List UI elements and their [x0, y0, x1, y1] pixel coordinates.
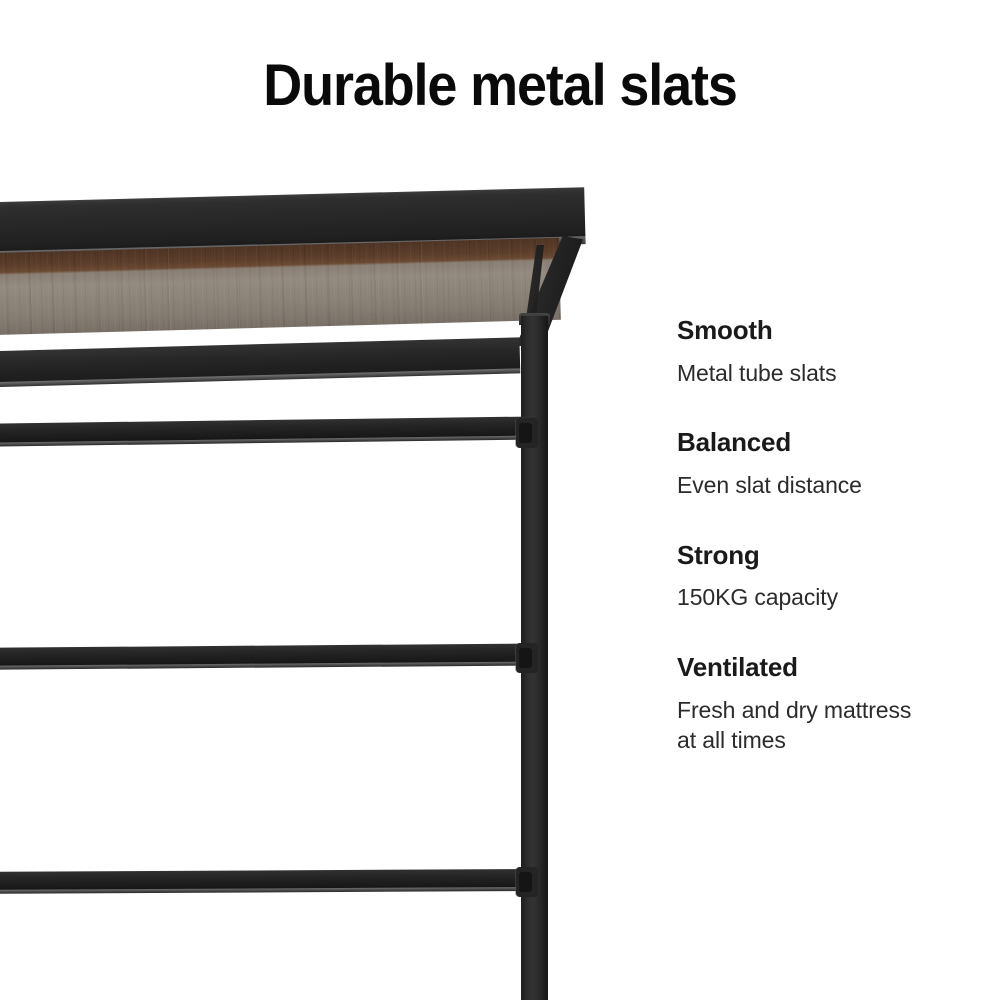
feature-title-strong: Strong	[677, 541, 987, 571]
bed-wood-panel	[0, 238, 561, 336]
feature-list: Smooth Metal tube slats Balanced Even sl…	[677, 316, 987, 755]
slat-bracket-3	[516, 867, 538, 897]
bed-metal-slat-3	[0, 869, 535, 891]
feature-item-balanced: Balanced Even slat distance	[677, 428, 987, 500]
feature-desc-balanced: Even slat distance	[677, 470, 987, 500]
feature-desc-strong: 150KG capacity	[677, 582, 987, 612]
feature-desc-smooth: Metal tube slats	[677, 358, 987, 388]
slat-bracket-2	[516, 643, 538, 673]
bed-metal-slat-1	[0, 416, 535, 444]
feature-title-smooth: Smooth	[677, 316, 987, 346]
feature-item-smooth: Smooth Metal tube slats	[677, 316, 987, 388]
bed-metal-slat-2	[0, 643, 535, 667]
bed-inner-side-rail	[0, 337, 520, 384]
feature-item-strong: Strong 150KG capacity	[677, 541, 987, 613]
feature-title-ventilated: Ventilated	[677, 653, 987, 683]
product-photo	[0, 0, 640, 1000]
feature-title-balanced: Balanced	[677, 428, 987, 458]
wood-grain-texture	[0, 238, 561, 336]
feature-item-ventilated: Ventilated Fresh and dry mattress at all…	[677, 653, 987, 756]
feature-desc-ventilated: Fresh and dry mattress at all times	[677, 695, 987, 756]
infographic-page: Durable metal slats Smooth Metal tube sl…	[0, 0, 1000, 1000]
slat-bracket-1	[516, 418, 538, 448]
